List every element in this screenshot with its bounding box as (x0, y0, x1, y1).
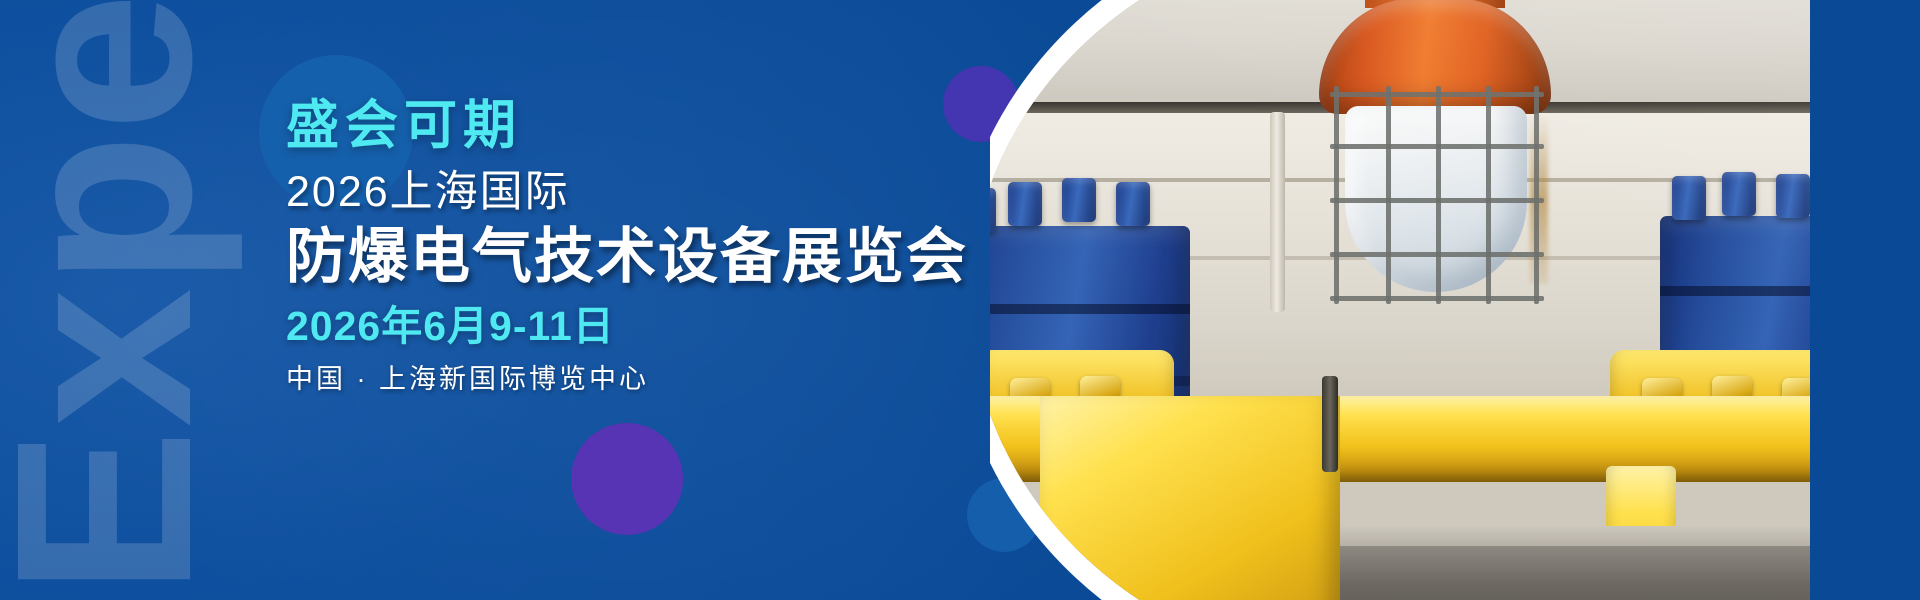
photo-scene (990, 0, 1810, 600)
kicker-text: 盛会可期 (286, 96, 1006, 155)
photo-panel (990, 0, 1920, 600)
valve-bolt (1672, 176, 1706, 220)
pipe-strap (1322, 376, 1338, 472)
subtitle-text: 2026上海国际 (286, 169, 1006, 216)
lamp-glass-globe (1345, 106, 1527, 292)
scene-conduit (1270, 112, 1285, 312)
electrical-cable (1663, 509, 1810, 600)
exhibition-banner: Expec 盛会可期 2026上海国际 防爆电气技术设备展览会 2026年6月9… (0, 0, 1920, 600)
valve-bolt (1722, 172, 1756, 216)
valve-bolt (1116, 182, 1150, 226)
event-date: 2026年6月9-11日 (286, 304, 1006, 349)
event-venue: 中国 · 上海新国际博览中心 (286, 365, 1006, 395)
valve-bolt (1776, 174, 1810, 218)
page-title: 防爆电气技术设备展览会 (286, 223, 1006, 290)
valve-bolt (1008, 182, 1042, 226)
valve-bolt (990, 188, 996, 232)
valve-ring (990, 304, 1190, 314)
valve-bolt (1062, 178, 1096, 222)
yellow-pipe-elbow (1040, 396, 1340, 600)
scene-rust-stain (1530, 114, 1548, 284)
decor-circle-purple-large (571, 423, 683, 535)
industrial-photo (990, 0, 1810, 600)
banner-copy-block: 盛会可期 2026上海国际 防爆电气技术设备展览会 2026年6月9-11日 中… (286, 96, 1006, 395)
valve-ring (1660, 286, 1810, 296)
